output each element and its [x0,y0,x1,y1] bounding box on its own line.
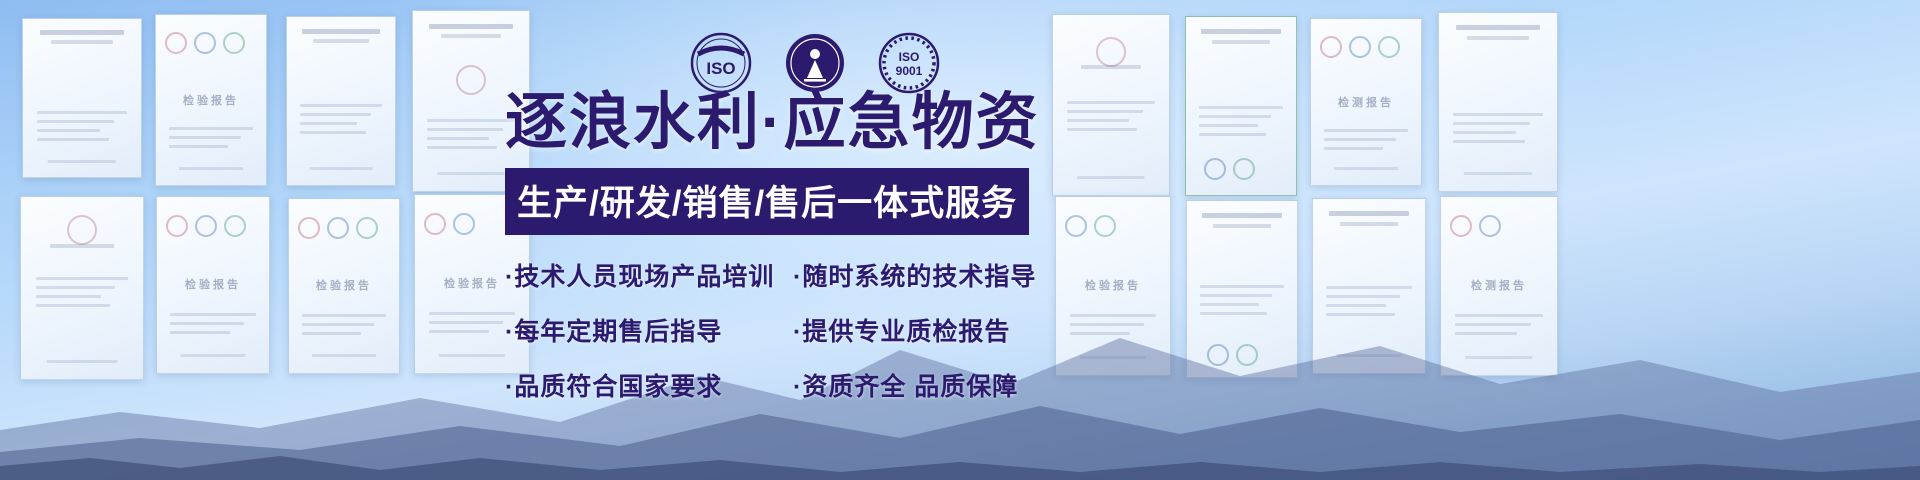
feature-item: ·品质符合国家要求 [505,367,793,403]
certificate-card [286,16,396,186]
feature-item: ·资质齐全 品质保障 [793,367,1018,403]
certification-badges: ISO ISO 9001 [690,32,940,94]
banner-headline: 逐浪水利·应急物资 [505,92,1085,154]
feature-list: ·技术人员现场产品培训 ·随时系统的技术指导 ·每年定期售后指导 ·提供专业质检… [505,257,1085,403]
feature-item: ·每年定期售后指导 [505,312,793,348]
certificate-card: 检测报告 [1310,18,1422,186]
promo-banner: 检验报告 检测报告 [0,0,1920,480]
svg-text:ISO: ISO [706,59,735,78]
banner-content: 逐浪水利·应急物资 生产/研发/销售/售后一体式服务 ·技术人员现场产品培训 ·… [505,92,1085,422]
svg-text:ISO: ISO [899,50,920,64]
certificate-card: 检验报告 [155,14,267,186]
feature-item: ·技术人员现场产品培训 [505,257,793,293]
feature-row: ·技术人员现场产品培训 ·随时系统的技术指导 [505,257,1085,293]
emblem-badge [784,32,846,94]
feature-row: ·每年定期售后指导 ·提供专业质检报告 [505,312,1085,348]
svg-text:9001: 9001 [896,64,923,78]
feature-item: ·提供专业质检报告 [793,312,1010,348]
feature-item: ·随时系统的技术指导 [793,257,1036,293]
banner-subtitle: 生产/研发/销售/售后一体式服务 [505,168,1029,235]
certificate-card [1438,12,1558,192]
certificate-card [1185,16,1297,196]
certificate-card [22,18,142,178]
iso-badge: ISO [690,32,752,94]
feature-row: ·品质符合国家要求 ·资质齐全 品质保障 [505,367,1085,403]
iso9001-badge: ISO 9001 [878,32,940,94]
